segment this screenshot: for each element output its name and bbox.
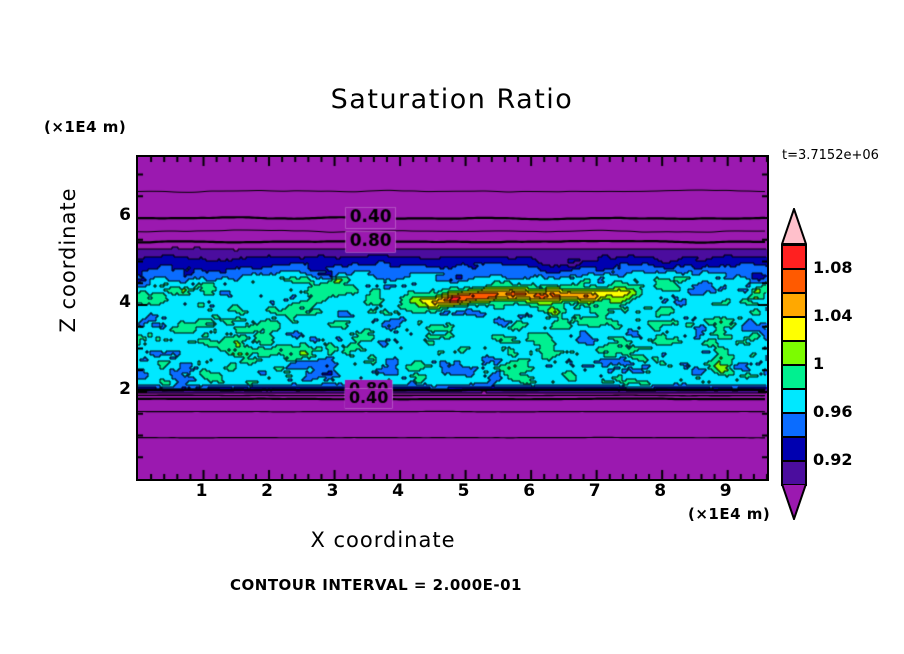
x-axis-tick-label: 2	[252, 481, 282, 501]
colorbar-segment	[781, 268, 807, 294]
colorbar-segment	[781, 340, 807, 366]
colorbar-segment	[781, 244, 807, 270]
colorbar-bottom-arrow	[781, 484, 807, 520]
x-axis-tick-label: 9	[711, 481, 741, 501]
x-axis-tick-label: 3	[318, 481, 348, 501]
y-axis-tick-label: 4	[105, 292, 131, 312]
colorbar[interactable]	[781, 208, 807, 520]
y-axis-tick-label: 2	[105, 379, 131, 399]
x-axis-unit-label: (×1E4 m)	[688, 505, 770, 523]
colorbar-segment	[781, 364, 807, 390]
colorbar-tick-label: 1	[813, 354, 824, 373]
y-axis-title: Z coordinate	[56, 170, 80, 350]
colorbar-segment	[781, 388, 807, 414]
contour-interval-caption: CONTOUR INTERVAL = 2.000E-01	[0, 576, 904, 594]
x-axis-title: X coordinate	[0, 528, 904, 552]
x-axis-tick-label: 7	[580, 481, 610, 501]
colorbar-segment	[781, 436, 807, 462]
colorbar-top-arrow	[781, 208, 807, 244]
colorbar-segment	[781, 412, 807, 438]
y-axis-tick-label: 6	[105, 205, 131, 225]
figure-root: Saturation Ratio (×1E4 m) t=3.7152e+06 (…	[0, 0, 904, 654]
colorbar-tick-label: 0.92	[813, 450, 852, 469]
colorbar-segment	[781, 316, 807, 342]
x-axis-tick-label: 5	[449, 481, 479, 501]
timestamp-label: t=3.7152e+06	[782, 148, 879, 163]
colorbar-segment	[781, 460, 807, 486]
colorbar-segment	[781, 292, 807, 318]
x-axis-tick-label: 6	[514, 481, 544, 501]
contour-plot-area	[136, 155, 769, 481]
y-axis-unit-label: (×1E4 m)	[44, 118, 126, 136]
x-axis-tick-label: 1	[187, 481, 217, 501]
x-axis-tick-label: 8	[645, 481, 675, 501]
page-title: Saturation Ratio	[0, 84, 904, 115]
colorbar-tick-label: 1.04	[813, 306, 852, 325]
colorbar-tick-label: 1.08	[813, 258, 852, 277]
saturation-field-canvas	[138, 157, 767, 479]
colorbar-tick-label: 0.96	[813, 402, 852, 421]
x-axis-tick-label: 4	[383, 481, 413, 501]
